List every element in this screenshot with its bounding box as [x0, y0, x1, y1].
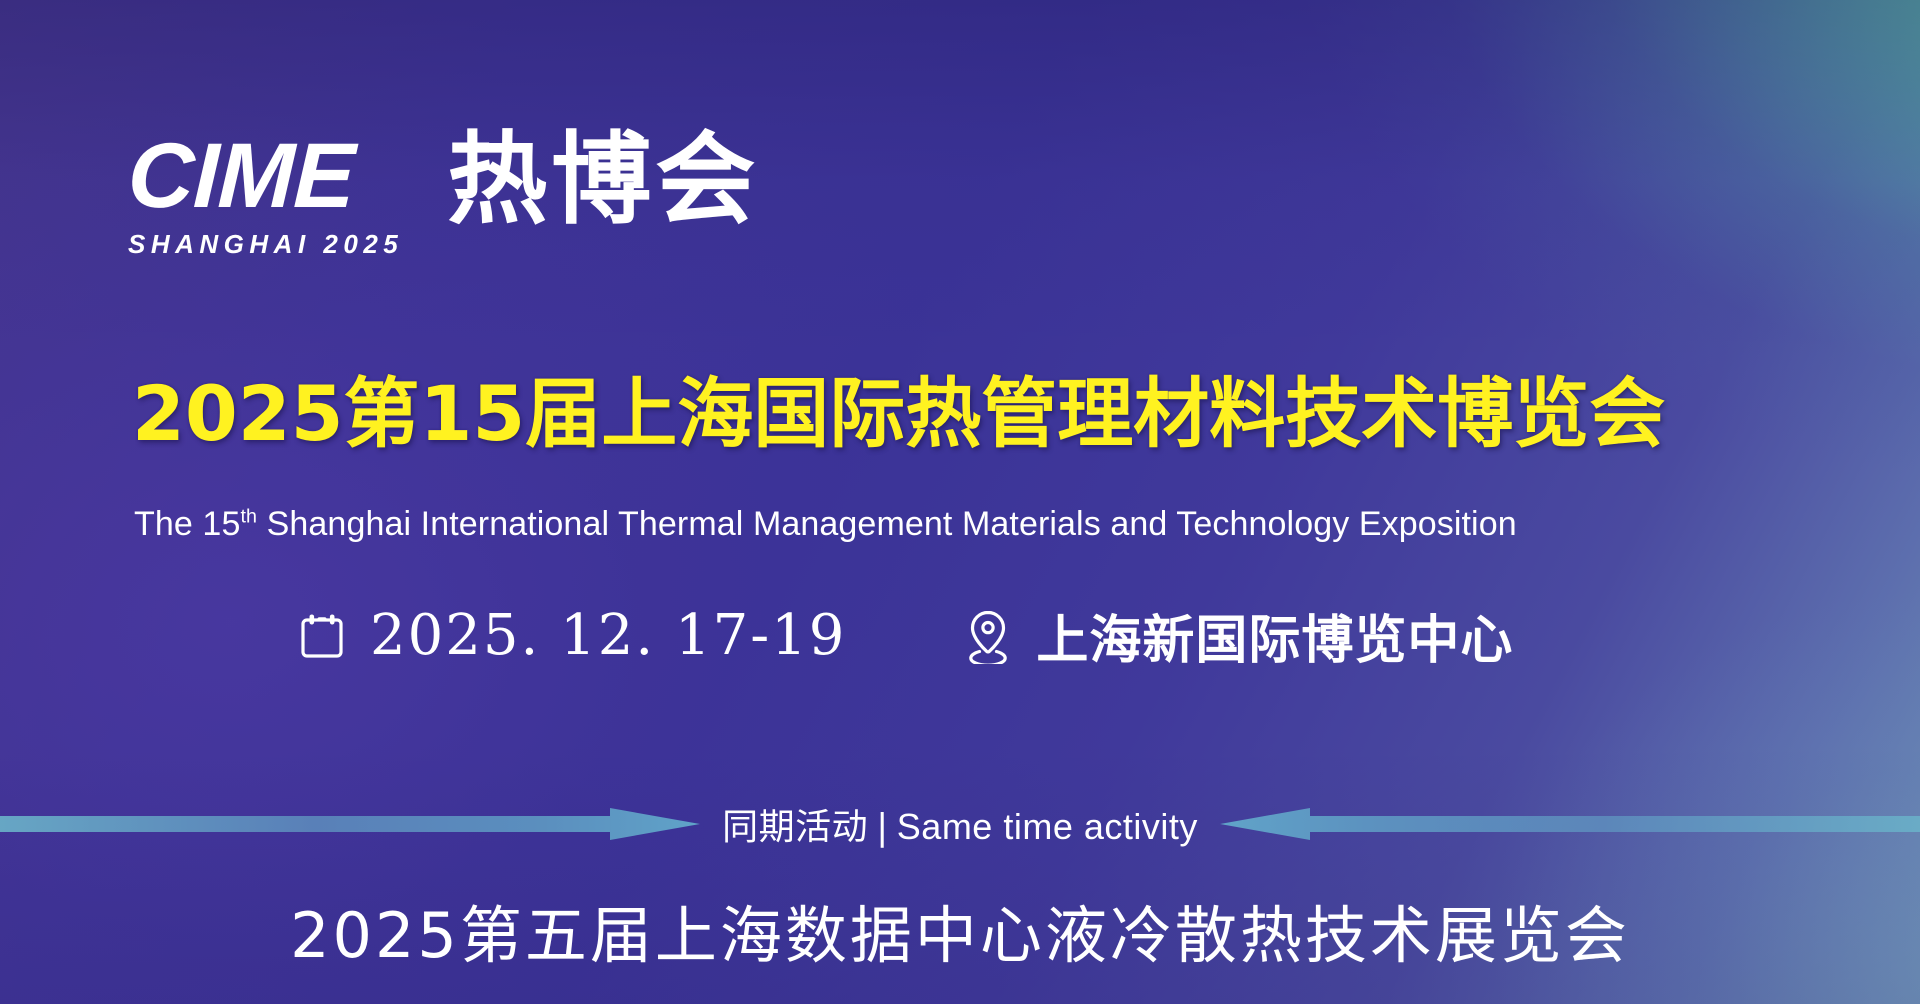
event-promo-banner: CIME SHANGHAI 2025 热博会 2025第15届上海国际热管理材料… [0, 0, 1920, 1004]
event-date-item: 2025. 12. 17-19 [298, 603, 846, 668]
logo-chinese-mark: 热博会 [447, 130, 759, 230]
main-title-chinese: 2025第15届上海国际热管理材料技术博览会 [132, 374, 1665, 454]
event-venue-text: 上海新国际博览中心 [1036, 598, 1513, 673]
arrow-left-icon [1220, 808, 1920, 840]
main-title-english-rest: Shanghai International Thermal Managemen… [257, 505, 1517, 543]
event-logo: CIME SHANGHAI 2025 热博会 [128, 134, 759, 260]
event-meta-row: 2025. 12. 17-19 上海新国际博览中心 [298, 598, 1513, 673]
same-time-activity-label: 同期活动|Same time activity [696, 798, 1224, 850]
same-time-activity-label-cn: 同期活动 [722, 807, 868, 848]
event-venue-item: 上海新国际博览中心 [964, 598, 1513, 673]
logo-wordmark-subtitle: SHANGHAI 2025 [128, 229, 403, 260]
calendar-icon [298, 608, 346, 664]
sub-event-title: 2025第五届上海数据中心液冷散热技术展览会 [0, 885, 1920, 975]
arrow-right-icon [0, 808, 700, 840]
logo-wordmark: CIME [127, 134, 356, 219]
same-time-activity-separator: | [868, 807, 897, 848]
banner-content: CIME SHANGHAI 2025 热博会 2025第15届上海国际热管理材料… [0, 0, 1920, 1004]
logo-wordmark-block: CIME SHANGHAI 2025 [128, 134, 403, 260]
main-title-english-prefix: The 15 [134, 505, 240, 543]
main-title-english: The 15th Shanghai International Thermal … [134, 505, 1517, 544]
location-pin-icon [964, 608, 1012, 664]
event-date-text: 2025. 12. 17-19 [370, 603, 846, 668]
same-time-activity-label-en: Same time activity [897, 806, 1198, 847]
same-time-activity-band: 同期活动|Same time activity [0, 788, 1920, 860]
main-title-ordinal-suffix: th [240, 506, 257, 528]
